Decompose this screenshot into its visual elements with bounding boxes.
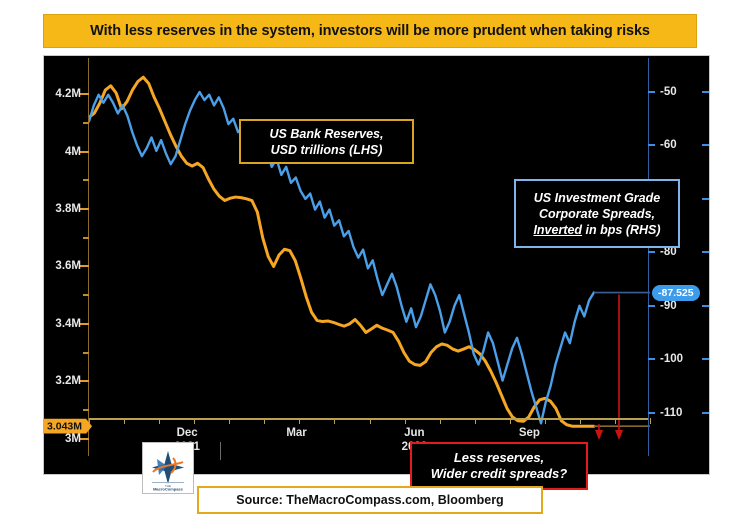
callout-bank-reserves-line2: USD trillions (LHS) — [271, 142, 383, 158]
x-axis-tick — [580, 418, 581, 424]
callout-ig-spreads-inverted: Inverted — [533, 223, 582, 237]
right-axis-tick-outer — [702, 358, 709, 360]
left-axis-tick — [80, 208, 89, 210]
right-axis-tick-outer — [702, 251, 709, 253]
x-axis-tick — [545, 418, 546, 424]
x-axis-tick — [299, 418, 300, 424]
right-axis-tick-outer — [702, 198, 709, 200]
callout-ig-spreads-line2: Corporate Spreads, — [539, 206, 655, 222]
callout-bank-reserves: US Bank Reserves, USD trillions (LHS) — [239, 119, 414, 164]
callout-less-reserves: Less reserves, Wider credit spreads? — [410, 442, 588, 490]
source-footer: Source: TheMacroCompass.com, Bloomberg — [197, 486, 543, 514]
left-axis-tick — [80, 438, 89, 440]
svg-text:MacroCompass: MacroCompass — [153, 487, 184, 492]
left-axis-tick — [80, 93, 89, 95]
callout-ig-spreads-line3-rest: in bps (RHS) — [582, 223, 660, 237]
x-axis-tick — [264, 418, 265, 424]
x-axis-tick — [405, 418, 406, 424]
left-axis: 4.2M4M3.8M3.6M3.4M3.2M3M 3.043M — [44, 56, 89, 458]
left-axis-tick-label: 4M — [65, 146, 81, 158]
x-axis-year-divider — [220, 442, 221, 460]
x-axis-tick — [475, 418, 476, 424]
right-axis-tick — [648, 305, 655, 307]
x-axis-tick-label: Sep — [519, 426, 540, 440]
callout-ig-spreads-line1: US Investment Grade — [534, 190, 660, 206]
callout-less-reserves-line2: Wider credit spreads? — [431, 466, 567, 482]
left-axis-tick-label: 3.4M — [55, 318, 81, 330]
left-axis-tick — [80, 323, 89, 325]
left-axis-tick-label: 3.2M — [55, 375, 81, 387]
right-axis-tick — [648, 251, 655, 253]
left-axis-tick — [80, 380, 89, 382]
x-axis-tick — [89, 418, 90, 424]
right-axis-tick-label: -80 — [660, 246, 677, 258]
compass-icon: THE MacroCompass — [143, 443, 193, 493]
left-axis-tick-label: 3.8M — [55, 203, 81, 215]
right-axis-tick — [648, 91, 655, 93]
the-macro-compass-logo: THE MacroCompass — [142, 442, 194, 494]
source-text: Source: TheMacroCompass.com, Bloomberg — [236, 493, 503, 507]
right-axis-tick-label: -110 — [660, 407, 682, 419]
left-axis-tick — [80, 151, 89, 153]
left-axis-value-flag: 3.043M — [43, 419, 92, 434]
right-axis-tick — [648, 412, 655, 414]
callout-less-reserves-line1: Less reserves, — [454, 450, 544, 466]
x-axis-tick — [229, 418, 230, 424]
right-axis-tick-label: -60 — [660, 139, 677, 151]
x-axis-tick — [159, 418, 160, 424]
x-axis-month: Jun — [404, 427, 424, 439]
right-axis-tick-outer — [702, 91, 709, 93]
left-axis-tick — [80, 265, 89, 267]
x-axis-tick — [510, 418, 511, 424]
right-axis-tick-outer — [702, 305, 709, 307]
x-axis-tick — [334, 418, 335, 424]
x-axis-tick — [124, 418, 125, 424]
right-axis-tick-outer — [702, 412, 709, 414]
right-axis-tick-outer — [702, 144, 709, 146]
x-axis-tick — [440, 418, 441, 424]
right-axis-value-flag: -87.525 — [652, 285, 700, 301]
chart-title-banner: With less reserves in the system, invest… — [43, 14, 697, 48]
x-axis-month: Dec — [177, 427, 198, 439]
right-axis-tick-label: -50 — [660, 86, 677, 98]
x-axis-tick — [370, 418, 371, 424]
callout-ig-spreads-line3: Inverted in bps (RHS) — [533, 222, 660, 238]
x-axis-tick — [194, 418, 195, 424]
callout-ig-spreads: US Investment Grade Corporate Spreads, I… — [514, 179, 680, 248]
x-axis-tick-label: Mar — [286, 426, 306, 440]
right-axis-line — [648, 58, 649, 456]
left-axis-tick-label: 3M — [65, 433, 81, 445]
chart-screenshot: With less reserves in the system, invest… — [0, 0, 740, 526]
right-axis-tick — [648, 144, 655, 146]
right-axis-tick-label: -100 — [660, 353, 683, 365]
callout-bank-reserves-line1: US Bank Reserves, — [270, 126, 384, 142]
left-axis-tick-label: 4.2M — [55, 88, 81, 100]
chart-panel: 4.2M4M3.8M3.6M3.4M3.2M3M 3.043M -50-60-7… — [43, 55, 710, 475]
right-axis: -50-60-70-80-90-100-110 -87.525 — [648, 56, 709, 458]
right-axis-tick — [648, 358, 655, 360]
x-axis-month: Sep — [519, 427, 540, 439]
x-axis-tick — [615, 418, 616, 424]
right-axis-tick-label: -90 — [660, 300, 677, 312]
x-axis-month: Mar — [286, 427, 306, 439]
x-axis-line — [89, 418, 648, 420]
x-axis-tick — [650, 418, 651, 424]
left-axis-tick-label: 3.6M — [55, 260, 81, 272]
chart-title-text: With less reserves in the system, invest… — [90, 23, 650, 39]
